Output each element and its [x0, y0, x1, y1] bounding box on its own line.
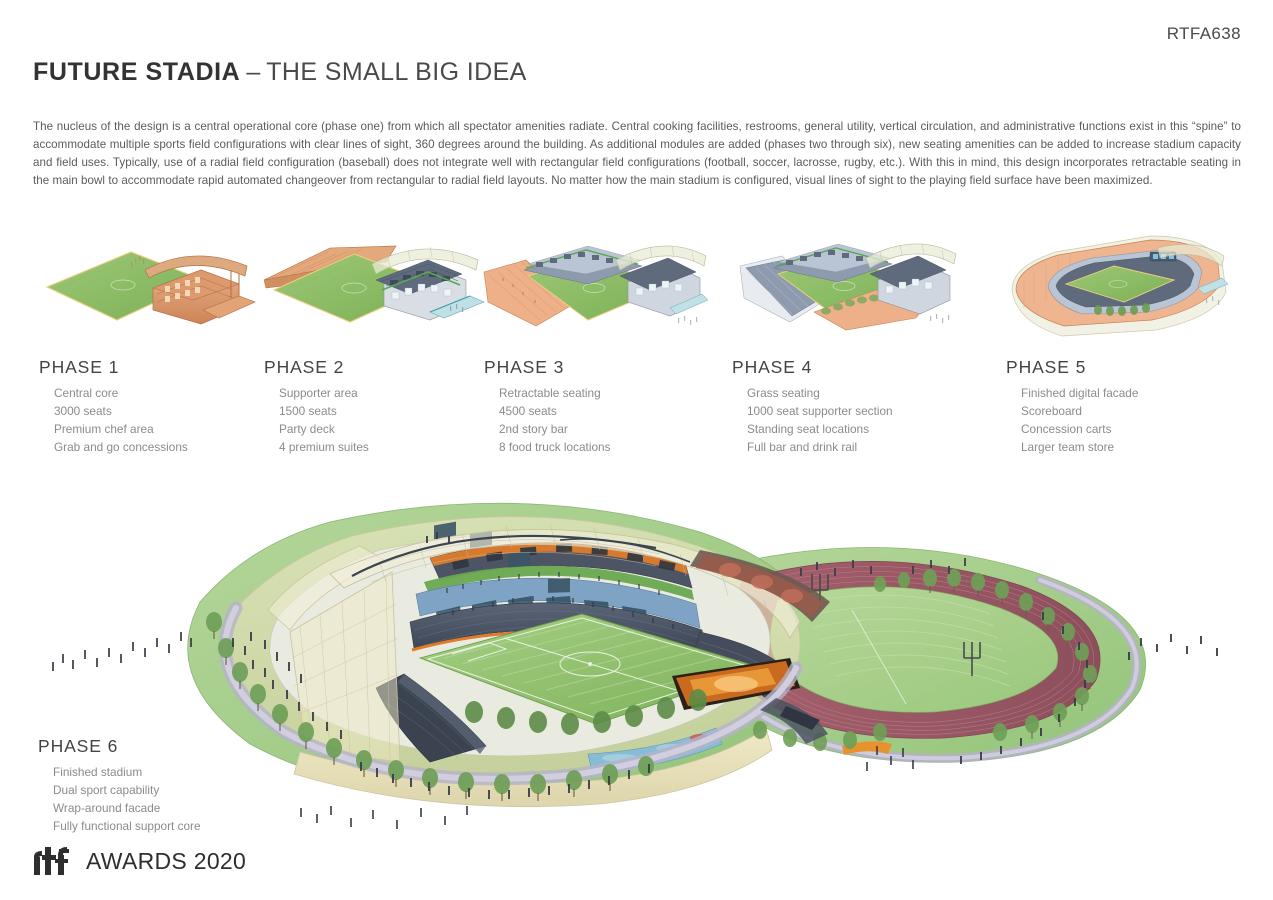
list-item: Dual sport capability — [53, 781, 201, 799]
phase-3-feature-list: Retractable seating 4500 seats 2nd story… — [484, 384, 710, 456]
phase-2-thumbnail — [258, 222, 490, 352]
list-item: Scoreboard — [1021, 402, 1232, 420]
list-item: Standing seat locations — [747, 420, 958, 438]
phase-2-caption: PHASE 2 Supporter area 1500 seats Party … — [264, 357, 490, 456]
list-item: 4 premium suites — [279, 438, 490, 456]
phase-3-title: PHASE 3 — [484, 357, 710, 378]
list-item: Wrap-around facade — [53, 799, 201, 817]
phase-4-caption: PHASE 4 Grass seating 1000 seat supporte… — [732, 357, 958, 456]
list-item: 8 food truck locations — [499, 438, 710, 456]
phase-column-3: PHASE 3 Retractable seating 4500 seats 2… — [478, 222, 710, 462]
phase-5-thumbnail — [1000, 222, 1232, 352]
title-subtitle: THE SMALL BIG IDEA — [266, 58, 527, 86]
list-item: Concession carts — [1021, 420, 1232, 438]
rtf-logo-icon — [33, 846, 79, 876]
list-item: Full bar and drink rail — [747, 438, 958, 456]
phase-2-title: PHASE 2 — [264, 357, 490, 378]
description-paragraph: The nucleus of the design is a central o… — [33, 118, 1241, 191]
phase-1-feature-list: Central core 3000 seats Premium chef are… — [39, 384, 265, 456]
phase-6-title: PHASE 6 — [38, 736, 201, 757]
list-item: 3000 seats — [54, 402, 265, 420]
list-item: Retractable seating — [499, 384, 710, 402]
list-item: 1500 seats — [279, 402, 490, 420]
list-item: Larger team store — [1021, 438, 1232, 456]
list-item: 2nd story bar — [499, 420, 710, 438]
rtf-awards-logo: AWARDS 2020 — [33, 846, 246, 876]
phase-6-feature-list: Finished stadium Dual sport capability W… — [38, 763, 201, 835]
phase-6-caption: PHASE 6 Finished stadium Dual sport capa… — [38, 736, 201, 835]
list-item: Finished stadium — [53, 763, 201, 781]
presentation-board: RTFA638 FUTURE STADIA–THE SMALL BIG IDEA… — [0, 0, 1273, 900]
phase-strip: PHASE 1 Central core 3000 seats Premium … — [0, 222, 1273, 462]
title-separator: – — [240, 58, 266, 86]
phase-column-2: PHASE 2 Supporter area 1500 seats Party … — [258, 222, 490, 462]
phase-3-thumbnail — [478, 222, 710, 352]
list-item: 1000 seat supporter section — [747, 402, 958, 420]
list-item: Grab and go concessions — [54, 438, 265, 456]
phase-column-1: PHASE 1 Central core 3000 seats Premium … — [33, 222, 265, 462]
list-item: Grass seating — [747, 384, 958, 402]
phase-2-feature-list: Supporter area 1500 seats Party deck 4 p… — [264, 384, 490, 456]
list-item: 4500 seats — [499, 402, 710, 420]
phase-column-5: PHASE 5 Finished digital facade Scoreboa… — [1000, 222, 1232, 462]
phase-4-thumbnail — [726, 222, 958, 352]
phase-1-thumbnail — [33, 222, 265, 352]
list-item: Supporter area — [279, 384, 490, 402]
list-item: Fully functional support core — [53, 817, 201, 835]
phase-4-title: PHASE 4 — [732, 357, 958, 378]
phase-column-4: PHASE 4 Grass seating 1000 seat supporte… — [726, 222, 958, 462]
list-item: Premium chef area — [54, 420, 265, 438]
phase-1-caption: PHASE 1 Central core 3000 seats Premium … — [39, 357, 265, 456]
list-item: Central core — [54, 384, 265, 402]
phase-5-title: PHASE 5 — [1006, 357, 1232, 378]
phase-5-feature-list: Finished digital facade Scoreboard Conce… — [1006, 384, 1232, 456]
awards-label: AWARDS 2020 — [86, 848, 246, 875]
phase-3-caption: PHASE 3 Retractable seating 4500 seats 2… — [484, 357, 710, 456]
page-title: FUTURE STADIA–THE SMALL BIG IDEA — [33, 58, 527, 87]
list-item: Party deck — [279, 420, 490, 438]
title-main: FUTURE STADIA — [33, 58, 240, 86]
list-item: Finished digital facade — [1021, 384, 1232, 402]
phase-4-feature-list: Grass seating 1000 seat supporter sectio… — [732, 384, 958, 456]
reference-code: RTFA638 — [1167, 24, 1241, 44]
phase-5-caption: PHASE 5 Finished digital facade Scoreboa… — [1006, 357, 1232, 456]
phase-1-title: PHASE 1 — [39, 357, 265, 378]
